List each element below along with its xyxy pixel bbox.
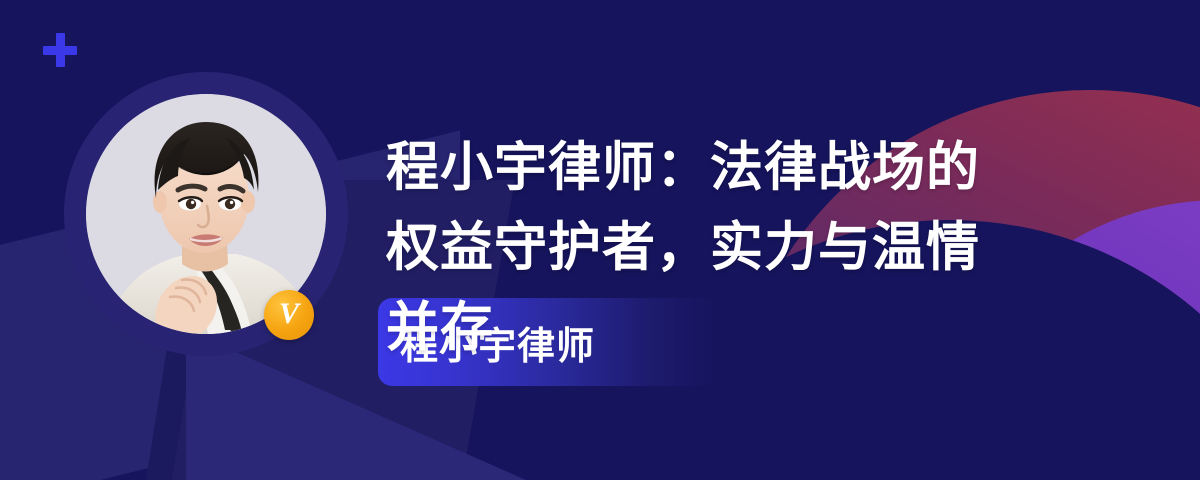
avatar: V bbox=[64, 72, 348, 356]
promo-banner: V 程小宇律师 程小宇律师：法律战场的 权益守护者，实力与温情 并存 bbox=[0, 0, 1200, 480]
verified-badge-icon: V bbox=[264, 290, 314, 340]
verified-badge-glyph: V bbox=[279, 299, 299, 329]
plus-icon bbox=[43, 33, 77, 67]
page-title: 程小宇律师：法律战场的 权益守护者，实力与温情 并存 bbox=[386, 128, 1176, 368]
